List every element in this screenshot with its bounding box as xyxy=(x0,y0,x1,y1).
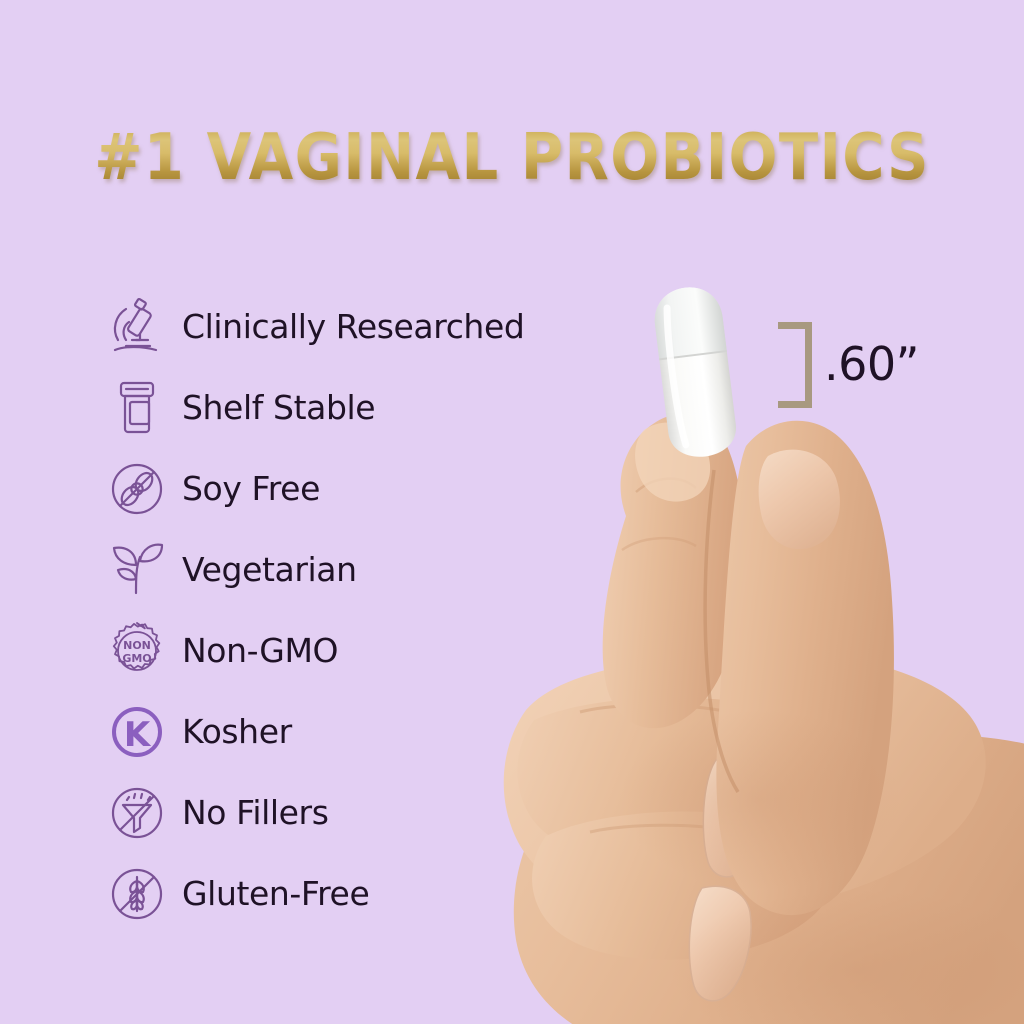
non-gmo-line-2: GMO xyxy=(122,652,151,665)
feature-item-no-fillers: No Fillers xyxy=(104,772,624,853)
thumbnail xyxy=(759,450,840,550)
no-funnel-icon xyxy=(104,780,170,846)
feature-label: Clinically Researched xyxy=(182,307,524,346)
feature-item-clinically-researched: Clinically Researched xyxy=(104,286,624,367)
feature-label: Vegetarian xyxy=(182,550,357,589)
feature-item-soy-free: Soy Free xyxy=(104,448,624,529)
measurement-bracket-icon xyxy=(778,322,812,408)
measurement-value: .60” xyxy=(824,337,919,391)
feature-list: Clinically Researched Shelf Stable xyxy=(104,286,624,934)
feature-label: No Fillers xyxy=(182,793,329,832)
microscope-icon xyxy=(104,294,170,360)
leaf-sprout-icon xyxy=(104,537,170,603)
feature-item-shelf-stable: Shelf Stable xyxy=(104,367,624,448)
feature-label: Soy Free xyxy=(182,469,320,508)
feature-label: Shelf Stable xyxy=(182,388,375,427)
feature-item-kosher: K Kosher xyxy=(104,691,624,772)
feature-label: Non-GMO xyxy=(182,631,338,670)
capsule-size-callout: .60” xyxy=(778,322,978,408)
kosher-letter: K xyxy=(124,715,152,755)
feature-label: Kosher xyxy=(182,712,292,751)
palm-shading xyxy=(620,710,900,890)
feature-label: Gluten-Free xyxy=(182,874,369,913)
page-title: #1 VAGINAL PROBIOTICS xyxy=(51,126,973,190)
feature-item-gluten-free: Gluten-Free xyxy=(104,853,624,934)
product-feature-graphic: #1 VAGINAL PROBIOTICS xyxy=(0,0,1024,1024)
non-gmo-line-1: NON xyxy=(123,639,151,652)
no-wheat-icon xyxy=(104,861,170,927)
no-soy-icon xyxy=(104,456,170,522)
kosher-k-icon: K xyxy=(104,699,170,765)
feature-item-vegetarian: Vegetarian xyxy=(104,529,624,610)
non-gmo-badge-icon: NON GMO xyxy=(104,618,170,684)
pill-bottle-icon xyxy=(104,375,170,441)
feature-item-non-gmo: NON GMO Non-GMO xyxy=(104,610,624,691)
